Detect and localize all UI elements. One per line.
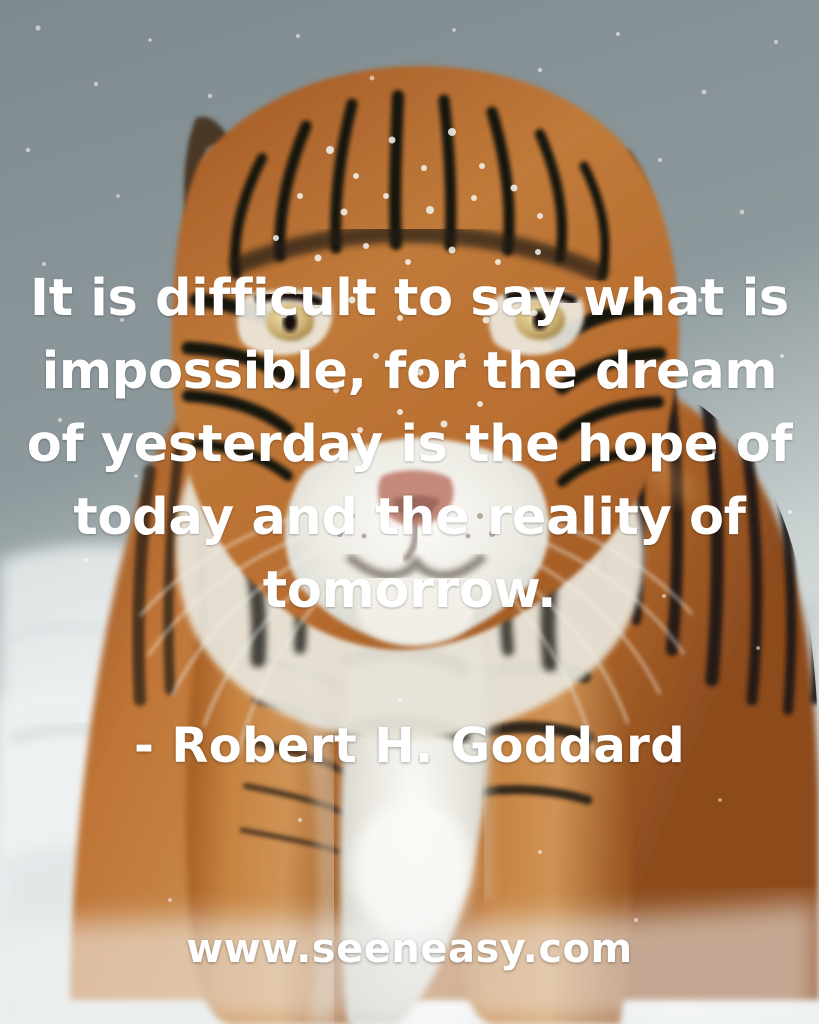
- text-overlay: It is difficult to say what is impossibl…: [0, 0, 819, 1024]
- site-url-watermark: www.seeneasy.com: [0, 924, 819, 974]
- quote-attribution: - Robert H. Goddard: [0, 718, 819, 774]
- quote-image-canvas: It is difficult to say what is impossibl…: [0, 0, 819, 1024]
- quote-line-3: of yesterday is the hope of: [14, 408, 805, 481]
- quote-line-4: today and the reality of: [14, 481, 805, 554]
- quote-text: It is difficult to say what is impossibl…: [0, 262, 819, 627]
- quote-line-5: tomorrow.: [14, 554, 805, 627]
- quote-line-1: It is difficult to say what is: [14, 262, 805, 335]
- quote-line-2: impossible, for the dream: [14, 335, 805, 408]
